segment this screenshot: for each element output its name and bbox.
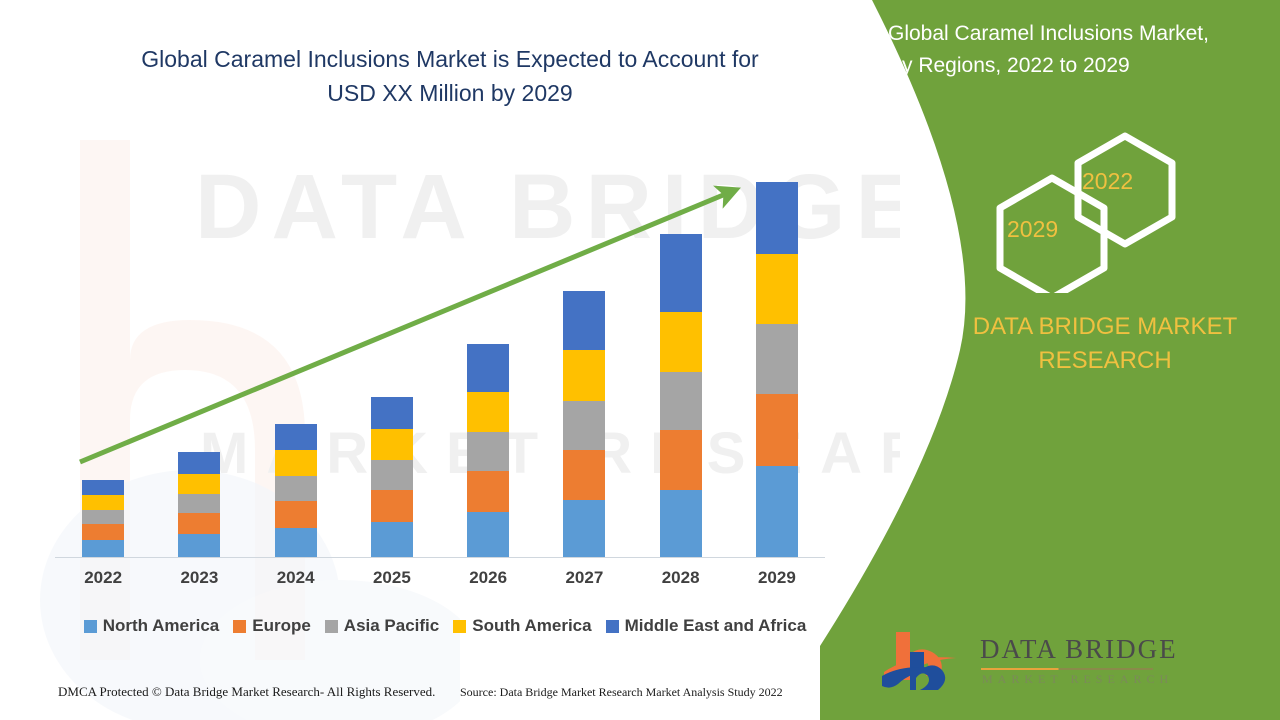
bar-2023 — [178, 452, 220, 557]
bar-segment-middle-east-and-africa — [178, 452, 220, 474]
bar-segment-south-america — [82, 495, 124, 510]
bar-segment-north-america — [82, 540, 124, 557]
bar-segment-north-america — [275, 528, 317, 557]
x-tick-2028: 2028 — [641, 568, 721, 588]
legend-label: Asia Pacific — [344, 616, 439, 636]
bar-segment-europe — [660, 430, 702, 490]
hexagon-label-2029: 2029 — [1007, 216, 1058, 243]
legend-item-middle-east-and-africa[interactable]: Middle East and Africa — [606, 616, 807, 636]
hexagon-outlines-icon — [980, 128, 1200, 293]
bar-segment-middle-east-and-africa — [467, 344, 509, 392]
bar-segment-europe — [563, 450, 605, 500]
bar-segment-north-america — [756, 466, 798, 557]
x-tick-2022: 2022 — [63, 568, 143, 588]
bar-segment-asia-pacific — [660, 372, 702, 430]
hexagon-badges: 2022 2029 — [980, 128, 1200, 293]
right-panel-title-line-2: By Regions, 2022 to 2029 — [888, 54, 1130, 77]
logo-text-sub: MARKET RESEARCH — [982, 672, 1173, 687]
bar-segment-asia-pacific — [275, 476, 317, 501]
x-tick-2024: 2024 — [256, 568, 336, 588]
x-tick-2023: 2023 — [159, 568, 239, 588]
chart-title: Global Caramel Inclusions Market is Expe… — [60, 42, 840, 110]
legend-swatch-icon — [84, 620, 97, 633]
bar-segment-asia-pacific — [178, 494, 220, 513]
bar-segment-europe — [275, 501, 317, 528]
bar-segment-europe — [467, 471, 509, 512]
x-tick-2026: 2026 — [448, 568, 528, 588]
footer: DMCA Protected © Data Bridge Market Rese… — [0, 680, 860, 712]
chart-panel: DATA BRIDGE MARKET RESEARCH Global Caram… — [0, 0, 900, 720]
legend-swatch-icon — [325, 620, 338, 633]
bar-segment-south-america — [756, 254, 798, 324]
bar-segment-middle-east-and-africa — [371, 397, 413, 429]
bar-2027 — [563, 291, 605, 557]
bar-segment-north-america — [467, 512, 509, 557]
bar-segment-south-america — [178, 474, 220, 494]
bar-segment-europe — [178, 513, 220, 534]
x-tick-2027: 2027 — [544, 568, 624, 588]
bar-segment-south-america — [563, 350, 605, 401]
bar-segment-middle-east-and-africa — [563, 291, 605, 350]
x-tick-2029: 2029 — [737, 568, 817, 588]
legend-swatch-icon — [453, 620, 466, 633]
bar-segment-south-america — [467, 392, 509, 432]
bar-segment-europe — [82, 524, 124, 540]
source-note: Source: Data Bridge Market Research Mark… — [460, 685, 783, 700]
dmca-notice: DMCA Protected © Data Bridge Market Rese… — [58, 684, 435, 700]
bar-segment-europe — [371, 490, 413, 522]
brand-name-line-1: DATA BRIDGE MARKET — [973, 313, 1237, 340]
slide-canvas: DATA BRIDGE MARKET RESEARCH Global Caram… — [0, 0, 1280, 720]
bar-2028 — [660, 234, 702, 557]
brand-name: DATA BRIDGE MARKET RESEARCH — [950, 310, 1260, 378]
legend-label: Europe — [252, 616, 311, 636]
brand-name-line-2: RESEARCH — [1038, 347, 1171, 374]
company-logo: DATA BRIDGE MARKET RESEARCH — [880, 628, 1180, 694]
x-axis-line — [55, 557, 825, 558]
bar-segment-middle-east-and-africa — [275, 424, 317, 450]
legend-item-north-america[interactable]: North America — [84, 616, 220, 636]
bar-segment-asia-pacific — [756, 324, 798, 394]
legend-label: Middle East and Africa — [625, 616, 807, 636]
bar-segment-north-america — [371, 522, 413, 557]
chart-legend: North AmericaEuropeAsia PacificSouth Ame… — [55, 616, 835, 636]
bar-2025 — [371, 397, 413, 557]
bar-segment-europe — [756, 394, 798, 466]
hexagon-label-2022: 2022 — [1082, 168, 1133, 195]
bar-segment-south-america — [660, 312, 702, 372]
bar-2022 — [82, 480, 124, 557]
chart-title-line-2: USD XX Million by 2029 — [327, 80, 572, 106]
bar-segment-asia-pacific — [371, 460, 413, 490]
right-panel-title-line-1: Global Caramel Inclusions Market, — [888, 22, 1209, 45]
bar-segment-middle-east-and-africa — [756, 182, 798, 254]
bar-segment-north-america — [660, 490, 702, 557]
legend-label: South America — [472, 616, 591, 636]
legend-swatch-icon — [606, 620, 619, 633]
right-panel-title: Global Caramel Inclusions Market, By Reg… — [888, 18, 1268, 82]
bar-2024 — [275, 424, 317, 557]
bar-segment-middle-east-and-africa — [82, 480, 124, 495]
bar-segment-south-america — [275, 450, 317, 476]
logo-divider — [981, 668, 1153, 670]
bar-segment-asia-pacific — [467, 432, 509, 471]
legend-item-asia-pacific[interactable]: Asia Pacific — [325, 616, 439, 636]
chart-title-line-1: Global Caramel Inclusions Market is Expe… — [141, 46, 758, 72]
x-tick-2025: 2025 — [352, 568, 432, 588]
right-green-panel: Global Caramel Inclusions Market, By Reg… — [820, 0, 1280, 720]
legend-item-south-america[interactable]: South America — [453, 616, 591, 636]
bar-segment-asia-pacific — [82, 510, 124, 524]
legend-label: North America — [103, 616, 220, 636]
bar-segment-south-america — [371, 429, 413, 460]
bar-segment-north-america — [563, 500, 605, 557]
legend-swatch-icon — [233, 620, 246, 633]
peach-blob-decoration — [20, 120, 320, 680]
bar-segment-asia-pacific — [563, 401, 605, 450]
bar-segment-middle-east-and-africa — [660, 234, 702, 312]
bar-2026 — [467, 344, 509, 557]
logo-text-main: DATA BRIDGE — [980, 634, 1178, 665]
bar-2029 — [756, 182, 798, 557]
bar-segment-north-america — [178, 534, 220, 557]
data-bridge-logo-icon — [880, 628, 976, 694]
legend-item-europe[interactable]: Europe — [233, 616, 311, 636]
